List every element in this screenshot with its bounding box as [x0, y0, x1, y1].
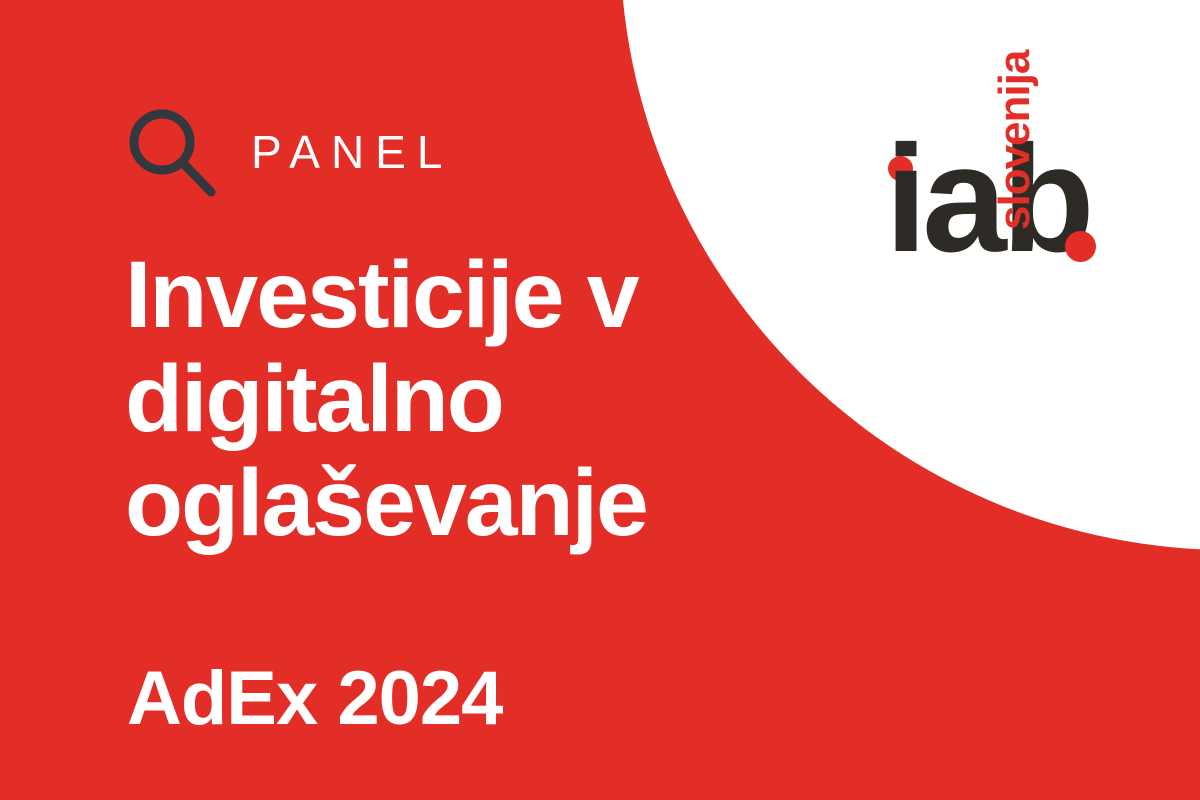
headline-line-1: Investicije v	[125, 243, 785, 347]
eyebrow-row: PANEL	[126, 106, 453, 198]
edition-label: AdEx 2024	[127, 661, 502, 737]
page-title: Investicije v digitalno oglaševanje	[125, 243, 785, 555]
iab-slovenija-logo: iab slovenija	[875, 25, 1120, 275]
logo-region-vertical: slovenija	[1037, 25, 1059, 230]
headline-line-2: digitalno	[125, 347, 785, 451]
poster-canvas: PANEL Investicije v digitalno oglaševanj…	[0, 0, 1200, 800]
logo-region-label: slovenija	[993, 51, 1037, 230]
search-icon	[126, 106, 218, 198]
logo-end-dot-icon	[1065, 231, 1096, 262]
eyebrow-label: PANEL	[251, 129, 453, 175]
headline-line-3: oglaševanje	[125, 451, 785, 555]
